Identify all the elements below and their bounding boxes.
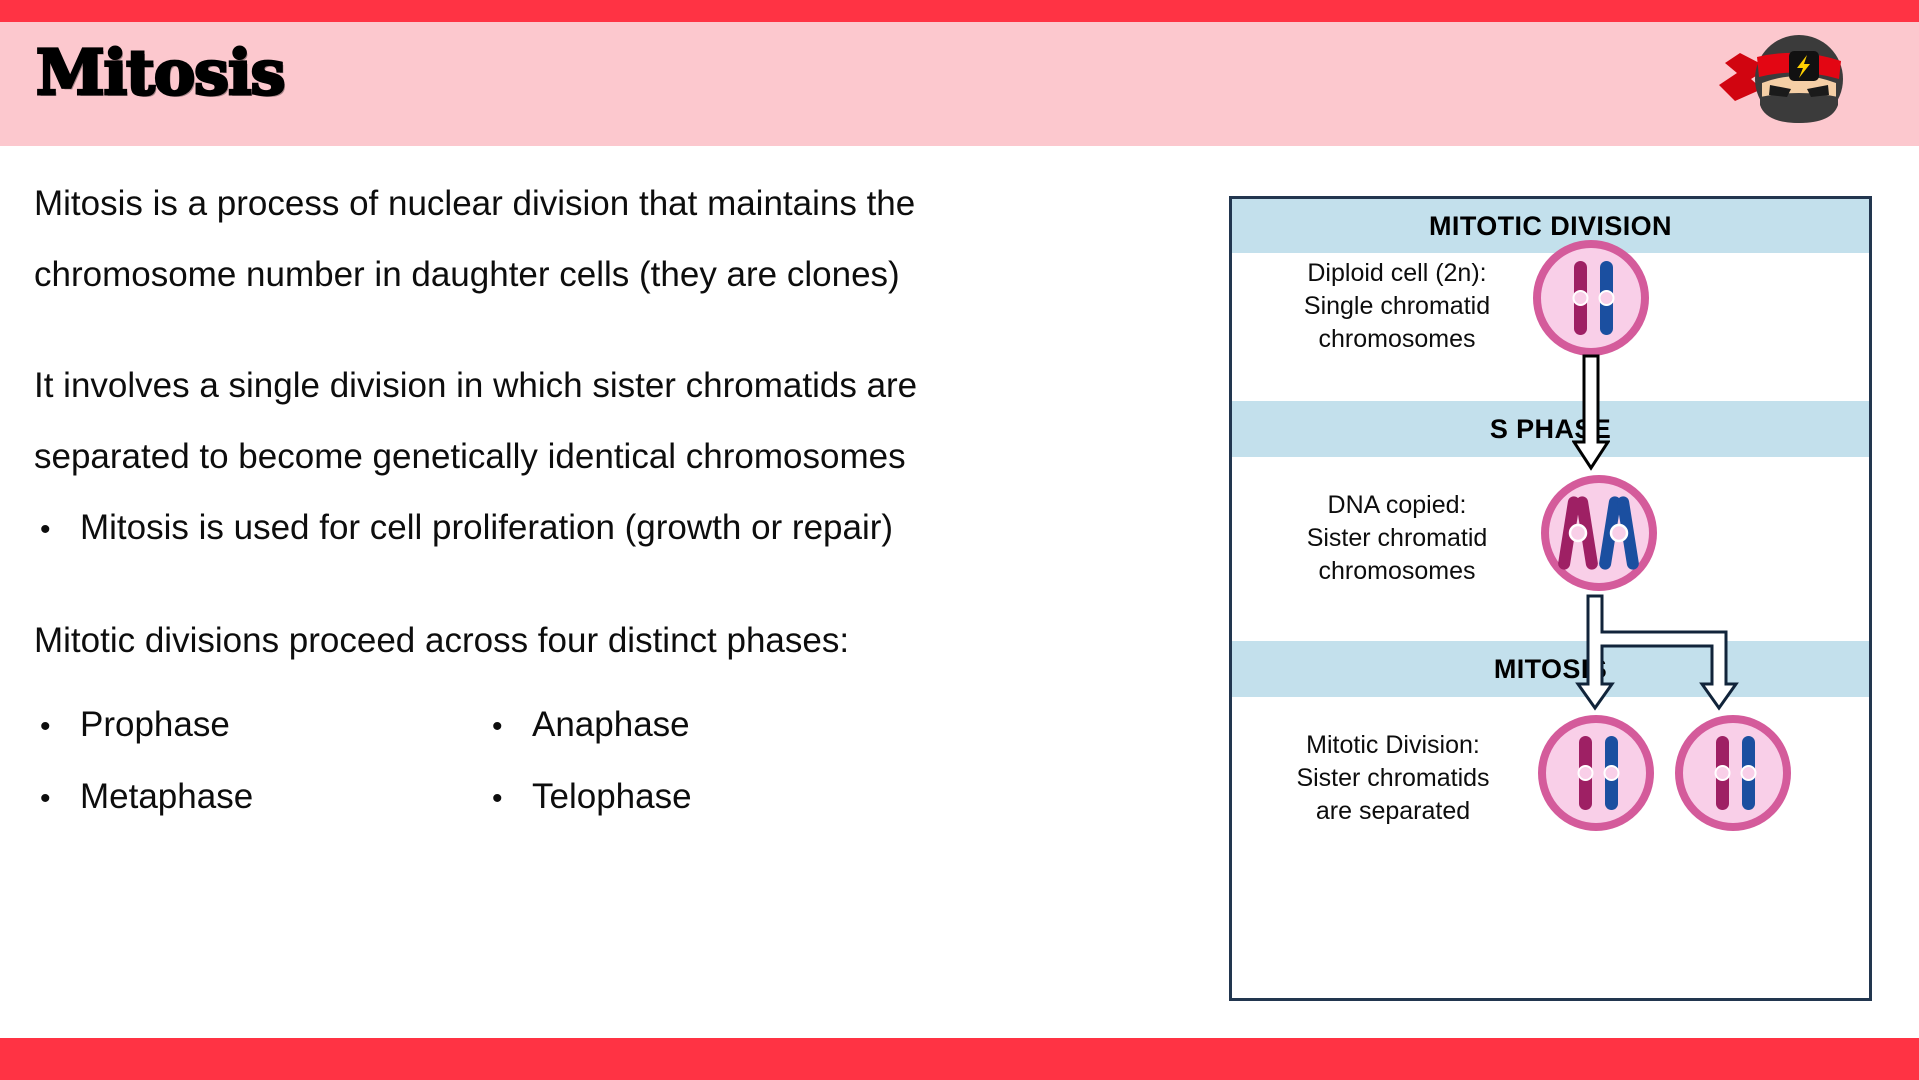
list-item-anaphase: • Anaphase xyxy=(486,690,938,762)
caption-diploid-cell: Diploid cell (2n):Single chromatidchromo… xyxy=(1254,257,1540,356)
s-phase-cell xyxy=(1540,474,1658,592)
bullet-proliferation-label: Mitosis is used for cell proliferation (… xyxy=(80,492,893,563)
mitotic-division-diagram: MITOTIC DIVISION S PHASE MITOSIS Diploid… xyxy=(1229,196,1872,1001)
bullet-dot-icon: • xyxy=(34,494,80,565)
daughter-cell-icon xyxy=(1537,714,1655,832)
diploid-cell xyxy=(1532,239,1650,357)
left-content-column: Mitosis is a process of nuclear division… xyxy=(34,168,964,834)
bullet-dot-icon: • xyxy=(34,763,80,834)
arrow-split-to-daughters xyxy=(1550,594,1750,712)
phase-label: Prophase xyxy=(80,690,230,760)
daughter-cell-icon xyxy=(1674,714,1792,832)
phase-label: Metaphase xyxy=(80,762,253,832)
bullet-proliferation: • Mitosis is used for cell proliferation… xyxy=(34,492,964,565)
list-item-telophase: • Telophase xyxy=(486,762,938,834)
daughter-cell-2 xyxy=(1674,714,1792,832)
diploid-cell-icon xyxy=(1532,239,1650,357)
phase-label: Anaphase xyxy=(532,690,690,760)
phase-column-right: • Anaphase • Telophase xyxy=(486,690,938,834)
band-s-phase: S PHASE xyxy=(1232,401,1869,457)
paragraph-single-division: It involves a single division in which s… xyxy=(34,350,964,492)
ninja-logo xyxy=(1707,23,1857,135)
band-label: MITOTIC DIVISION xyxy=(1429,211,1672,242)
phase-label: Telophase xyxy=(532,762,692,832)
phase-column-left: • Prophase • Metaphase xyxy=(34,690,486,834)
bullet-dot-icon: • xyxy=(486,763,532,834)
bottom-accent-bar xyxy=(0,1038,1919,1080)
arrow-to-s-phase xyxy=(1572,354,1610,472)
caption-mitotic-division: Mitotic Division:Sister chromatidsare se… xyxy=(1246,729,1540,828)
page-title: Mitosis xyxy=(36,36,285,110)
spacer-2 xyxy=(34,565,964,605)
bullet-dot-icon: • xyxy=(34,691,80,762)
s-phase-cell-icon xyxy=(1540,474,1658,592)
caption-dna-copied: DNA copied:Sister chromatidchromosomes xyxy=(1254,489,1540,588)
paragraph-four-phases: Mitotic divisions proceed across four di… xyxy=(34,605,964,676)
down-arrow-icon xyxy=(1572,354,1610,472)
forked-arrow-icon xyxy=(1550,594,1750,712)
phase-list: • Prophase • Metaphase • Anaphase • Telo… xyxy=(34,690,964,834)
title-band xyxy=(0,22,1919,146)
paragraph-definition: Mitosis is a process of nuclear division… xyxy=(34,168,964,310)
top-accent-bar xyxy=(0,0,1919,22)
ninja-logo-icon xyxy=(1707,23,1857,135)
spacer-1 xyxy=(34,310,964,350)
daughter-cell-1 xyxy=(1537,714,1655,832)
list-item-prophase: • Prophase xyxy=(34,690,486,762)
list-item-metaphase: • Metaphase xyxy=(34,762,486,834)
bullet-dot-icon: • xyxy=(486,691,532,762)
